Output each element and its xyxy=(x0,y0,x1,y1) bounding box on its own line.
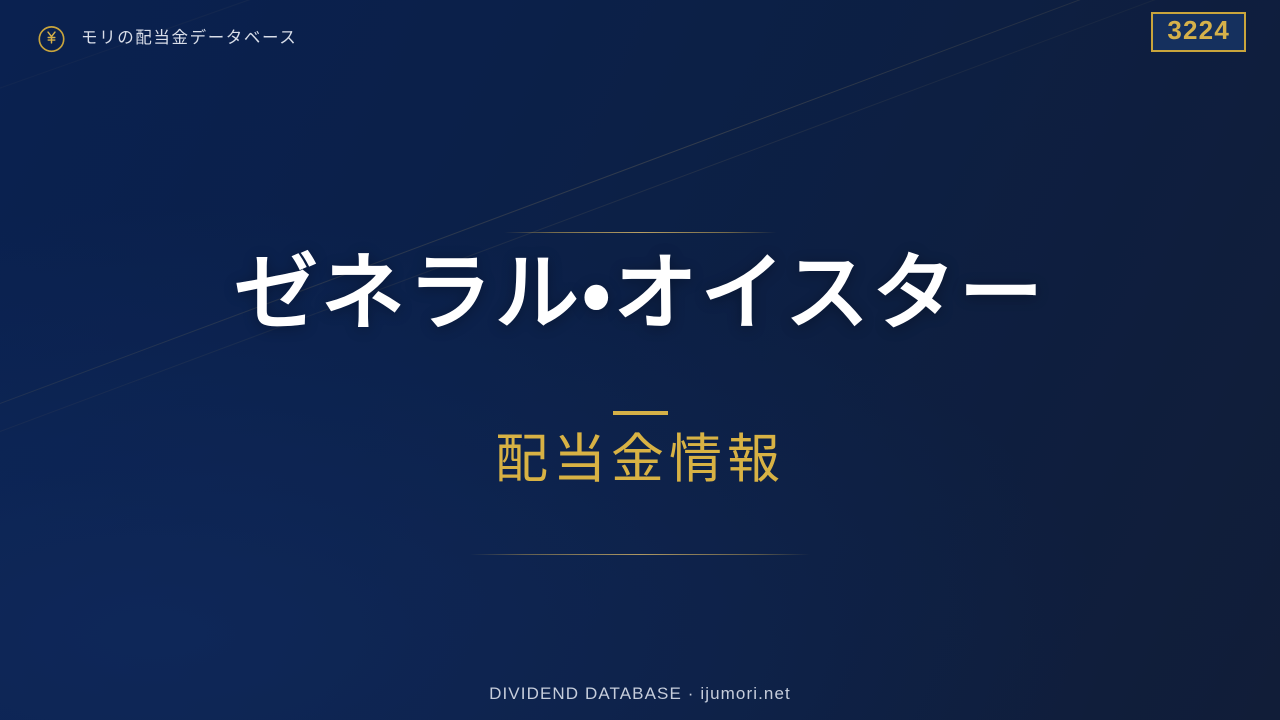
brand-lockup: モリの配当金データベース xyxy=(36,23,297,54)
yen-circle-icon xyxy=(36,23,67,54)
divider-top xyxy=(504,232,776,233)
title-block: ゼネラル・オイスター 配当金情報 xyxy=(0,232,1280,555)
footer-credit: DIVIDEND DATABASE · ijumori.net xyxy=(0,684,1280,704)
slide-header: モリの配当金データベース 3224 xyxy=(0,0,1280,88)
page-subtitle: 配当金情報 xyxy=(495,431,785,489)
divider-bottom xyxy=(470,554,810,555)
company-title: ゼネラル・オイスター xyxy=(234,249,1046,337)
title-slide: モリの配当金データベース 3224 ゼネラル・オイスター 配当金情報 DIVID… xyxy=(0,0,1280,720)
brand-name-label: モリの配当金データベース xyxy=(81,30,297,47)
ticker-code-badge: 3224 xyxy=(1151,12,1246,51)
gold-dash-accent xyxy=(613,411,668,415)
